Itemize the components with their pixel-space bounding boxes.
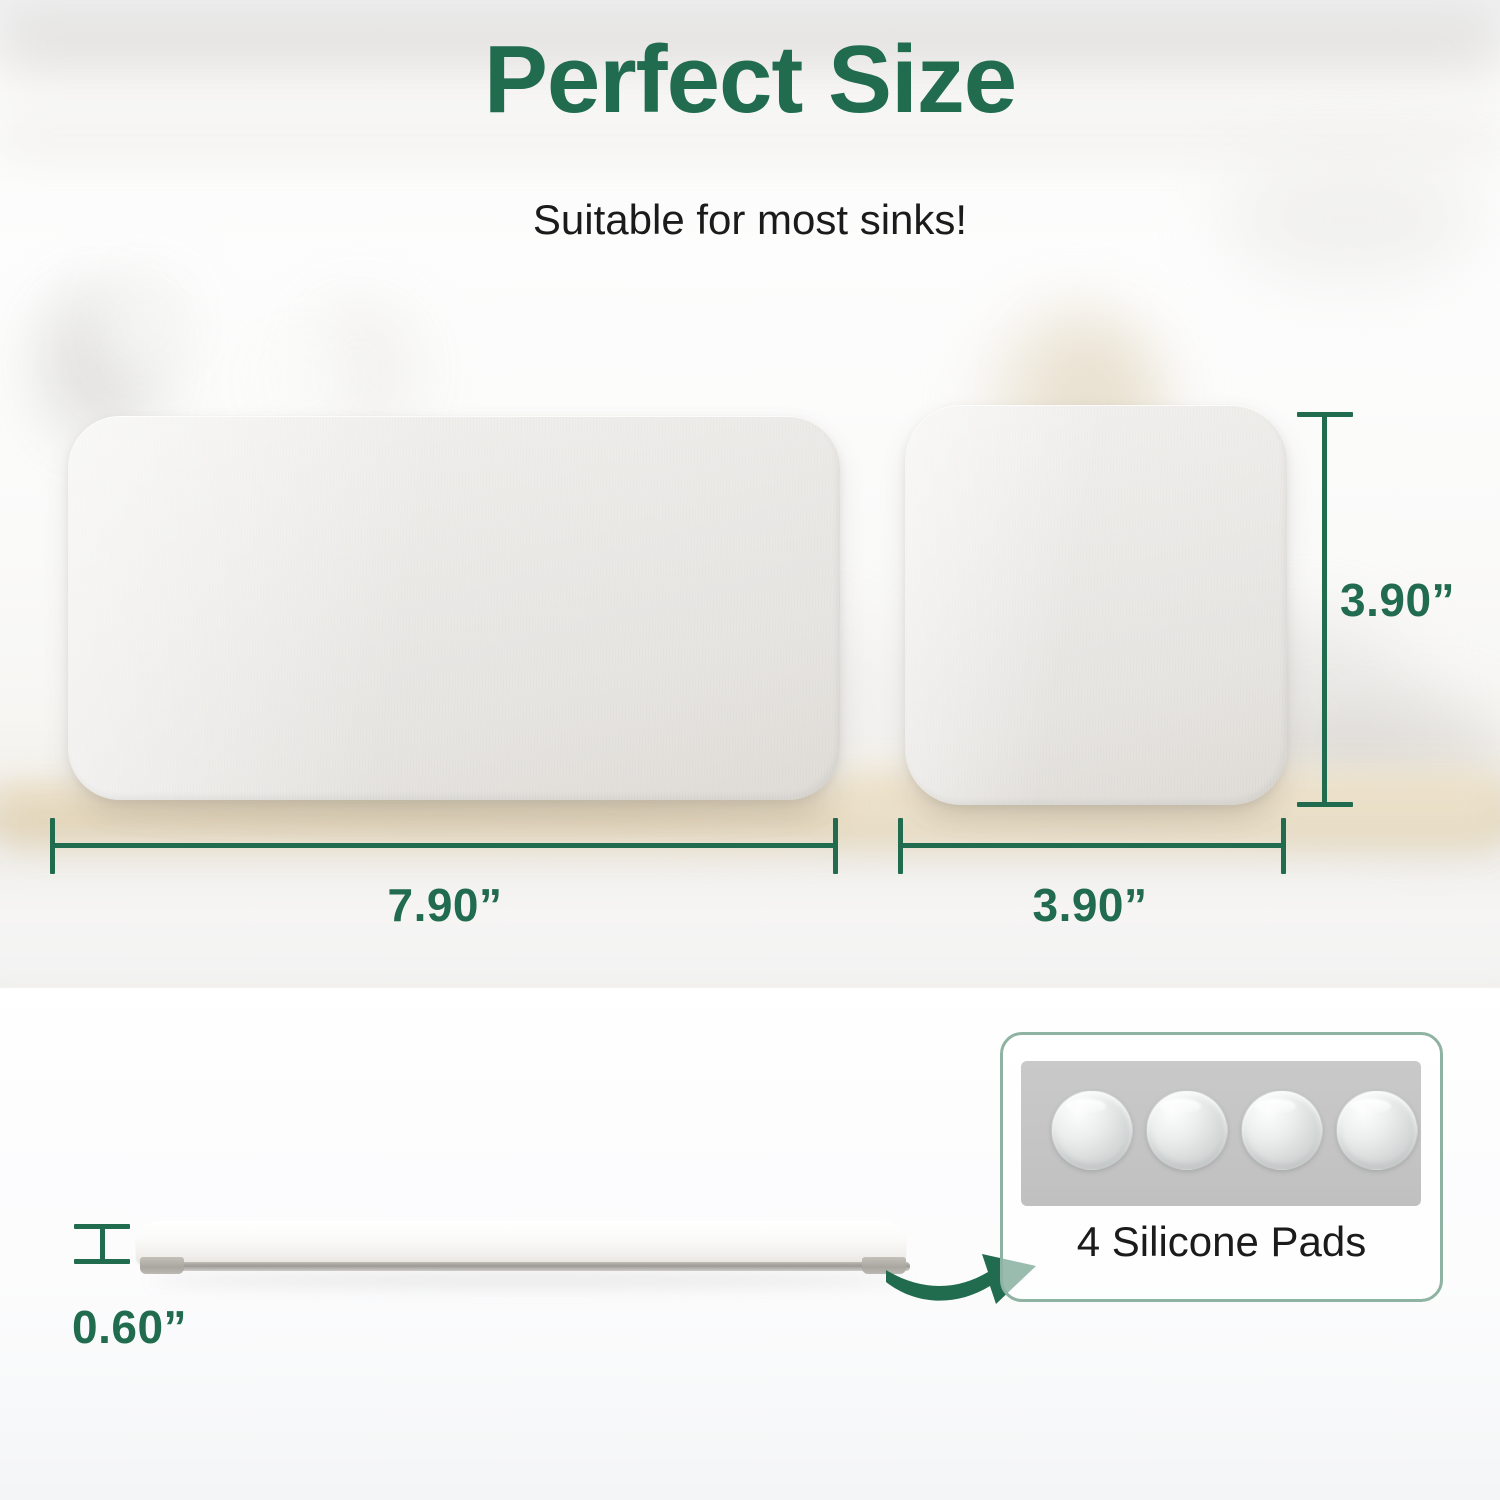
small-plate-product-image — [905, 405, 1287, 805]
silicone-pads-label: 4 Silicone Pads — [1000, 1218, 1443, 1266]
background-blur-blob — [255, 330, 345, 430]
thickness-dimension-line — [100, 1224, 105, 1264]
side-profile-base-edge — [150, 1262, 910, 1271]
large-plate-product-image — [68, 416, 840, 800]
silicone-pad — [1146, 1090, 1228, 1170]
thickness-dimension-cap-top — [74, 1224, 130, 1229]
width-dimension-line-small — [898, 843, 1286, 848]
height-dimension-cap-top — [1297, 412, 1353, 417]
background-blur-blob — [98, 268, 193, 378]
width-dimension-line-large — [50, 843, 838, 848]
width-dimension-cap-left-large — [50, 818, 55, 874]
height-dimension-label: 3.90” — [1340, 573, 1455, 627]
page-title: Perfect Size — [0, 32, 1500, 128]
height-dimension-cap-bottom — [1297, 802, 1353, 807]
side-profile-foot-left — [140, 1257, 184, 1274]
thickness-dimension-cap-bottom — [74, 1259, 130, 1264]
width-dimension-label-small: 3.90” — [890, 878, 1290, 932]
width-dimension-label-large: 7.90” — [0, 878, 890, 932]
silicone-pad — [1241, 1090, 1323, 1170]
silicone-pad — [1051, 1090, 1133, 1170]
infographic-canvas: Perfect Size Suitable for most sinks! 7.… — [0, 0, 1500, 1500]
side-profile-product-image — [136, 1221, 906, 1265]
silicone-pad — [1336, 1090, 1418, 1170]
page-subtitle: Suitable for most sinks! — [0, 196, 1500, 244]
side-profile-shadow — [150, 1272, 910, 1288]
width-dimension-cap-right-small — [1281, 818, 1286, 874]
width-dimension-cap-left-small — [898, 818, 903, 874]
thickness-dimension-label: 0.60” — [72, 1300, 187, 1354]
width-dimension-cap-right-large — [833, 818, 838, 874]
height-dimension-line — [1322, 412, 1327, 807]
